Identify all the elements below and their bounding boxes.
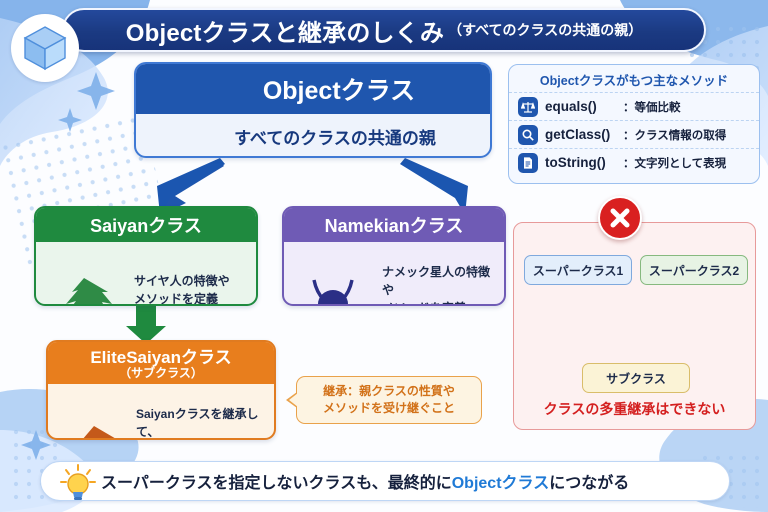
elitesaiyan-class-header: EliteSaiyanクラス （サブクラス）	[48, 342, 274, 384]
method-name-equals: equals()	[545, 99, 623, 114]
method-desc-tostring: ：文字列として表現	[623, 155, 726, 171]
diagram-canvas: Objectクラスと継承のしくみ （すべてのクラスの共通の親） Objectクラ…	[0, 0, 768, 512]
namekian-desc-line1: ナメック星人の特徴や	[382, 265, 490, 297]
page-title: Objectクラスと継承のしくみ （すべてのクラスの共通の親）	[62, 8, 706, 52]
multi-inheritance-panel: スーパークラス1 スーパークラス2 サブクラス クラスの多重継承はできない	[513, 222, 756, 430]
bottom-banner-text: スーパークラスを指定しないクラスも、最終的にObjectクラスにつながる	[101, 469, 629, 493]
method-desc-equals: ：等価比較	[623, 99, 681, 115]
namekian-class-name: Namekianクラス	[284, 208, 504, 242]
inheritance-note-line1: 継承：親クラスの性質や	[323, 384, 455, 398]
elitesaiyan-desc-line1: Saiyanクラスを継承して、	[136, 407, 258, 439]
page-title-main: Objectクラスと継承のしくみ	[126, 13, 444, 48]
inheritance-note: 継承：親クラスの性質や メソッドを受け継ぐこと	[296, 376, 482, 424]
scales-icon	[518, 97, 538, 117]
banner-text-after: につながる	[549, 475, 629, 492]
object-class-subtitle: すべてのクラスの共通の親	[136, 114, 490, 158]
object-class-name: Objectクラス	[136, 64, 490, 114]
saiyan-silhouette-icon	[42, 276, 128, 306]
saiyan-class-card: Saiyanクラス サイヤ人の特徴や メソッドを定義	[34, 206, 258, 306]
elitesaiyan-class-card: EliteSaiyanクラス （サブクラス） Saiyanクラスを継承して、 独…	[46, 340, 276, 440]
multi-inheritance-caption: クラスの多重継承はできない	[514, 399, 755, 419]
namekian-silhouette-icon	[290, 278, 376, 306]
banner-text-before: スーパークラスを指定しないクラスも、最終的に	[101, 475, 452, 492]
namekian-class-card: Namekianクラス ナメック星人の特徴や メソッドを定義	[282, 206, 506, 306]
saiyan-desc-line1: サイヤ人の特徴や	[134, 274, 230, 288]
superclass2-box: スーパークラス2	[640, 255, 748, 285]
method-row-equals: equals() ：等価比較	[509, 92, 759, 120]
namekian-class-body: ナメック星人の特徴や メソッドを定義	[284, 242, 504, 306]
cube-icon	[11, 14, 79, 82]
method-desc-getclass: ：クラス情報の取得	[623, 127, 726, 143]
document-icon	[518, 153, 538, 173]
object-class-box: Objectクラス すべてのクラスの共通の親	[134, 62, 492, 158]
elitesaiyan-class-subtitle: （サブクラス）	[119, 367, 203, 380]
methods-panel: Objectクラスがもつ主なメソッド equals() ：等価比較 getCla…	[508, 64, 760, 184]
saiyan-class-desc: サイヤ人の特徴や メソッドを定義	[134, 272, 246, 306]
namekian-desc-line2: メソッドを定義	[382, 301, 466, 306]
elitesaiyan-class-name: EliteSaiyanクラス	[90, 349, 231, 367]
elitesaiyan-class-body: Saiyanクラスを継承して、 独自の機能を追加	[48, 384, 274, 440]
method-row-getclass: getClass() ：クラス情報の取得	[509, 120, 759, 148]
bottom-banner: スーパークラスを指定しないクラスも、最終的にObjectクラスにつながる	[40, 461, 730, 501]
x-mark-icon	[598, 196, 642, 240]
banner-text-highlight: Objectクラス	[452, 475, 549, 492]
inheritance-note-line2: メソッドを受け継ぐこと	[323, 401, 455, 415]
method-row-tostring: toString() ：文字列として表現	[509, 148, 759, 176]
saiyan-desc-line2: メソッドを定義	[134, 292, 218, 306]
method-name-getclass: getClass()	[545, 127, 623, 142]
page-title-sub: （すべてのクラスの共通の親）	[448, 20, 642, 40]
elitesaiyan-silhouette-icon	[54, 426, 134, 440]
subclass-box: サブクラス	[582, 363, 690, 393]
saiyan-class-body: サイヤ人の特徴や メソッドを定義	[36, 242, 256, 306]
methods-panel-title: Objectクラスがもつ主なメソッド	[509, 65, 759, 92]
magnifier-icon	[518, 125, 538, 145]
lightbulb-icon	[59, 464, 97, 504]
saiyan-class-name: Saiyanクラス	[36, 208, 256, 242]
method-name-tostring: toString()	[545, 155, 623, 170]
elitesaiyan-class-desc: Saiyanクラスを継承して、 独自の機能を追加	[136, 405, 266, 440]
superclass1-box: スーパークラス1	[524, 255, 632, 285]
namekian-class-desc: ナメック星人の特徴や メソッドを定義	[382, 263, 494, 306]
